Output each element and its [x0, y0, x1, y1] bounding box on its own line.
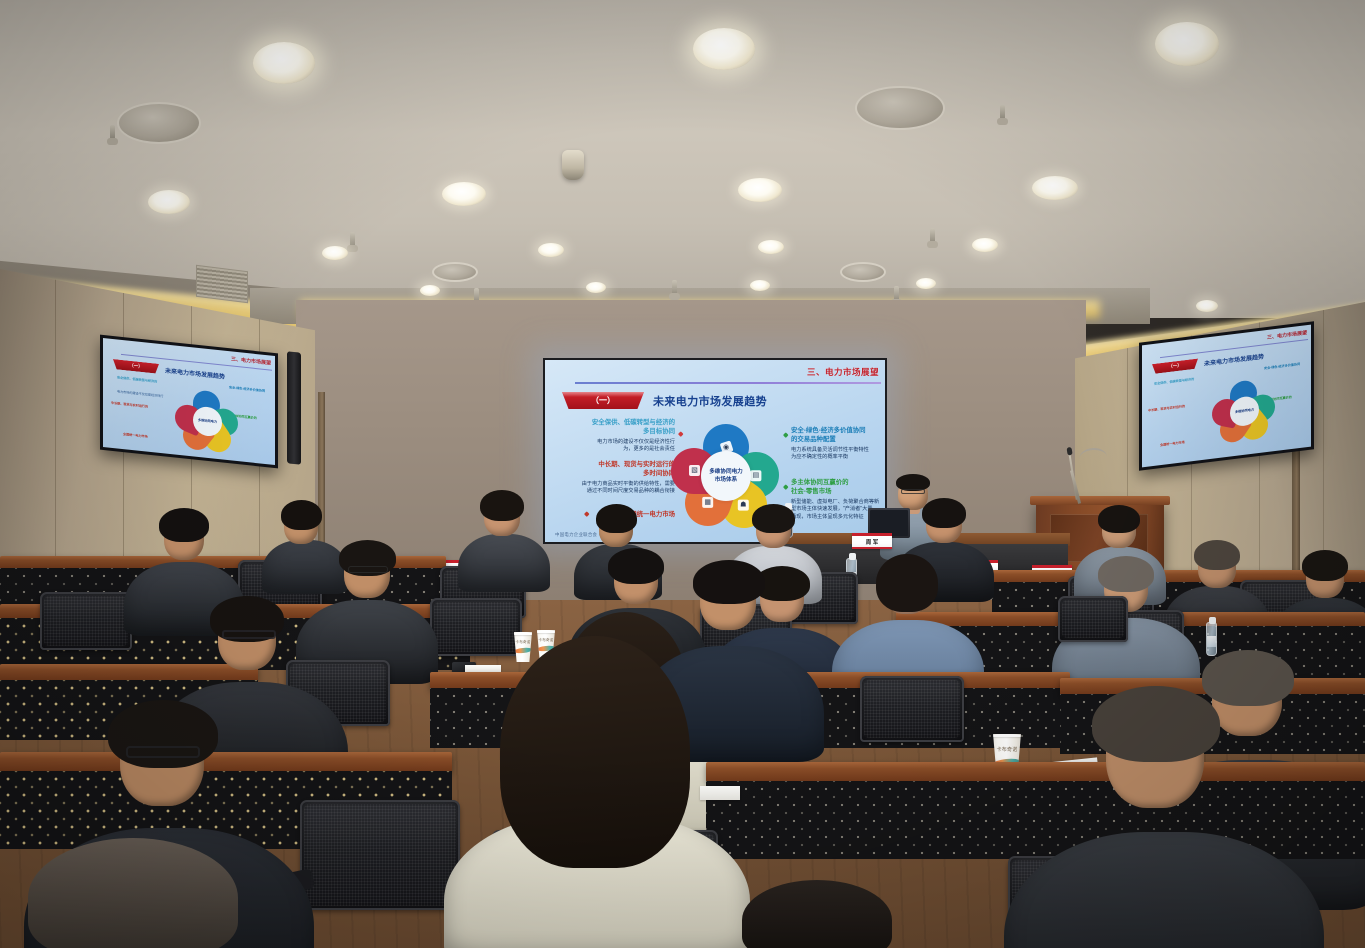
air-vent: [196, 265, 248, 303]
attendee-hair: [159, 508, 209, 542]
block-midleft-heading-1: 中长期、现货与实时运行的: [555, 460, 675, 469]
tv-left-banner-label: （一）: [129, 363, 143, 370]
slide-block-mid-left: 中长期、现货与实时运行的 多时间协同 由于电力商品实时平衡的供给特性，需要 通过…: [555, 460, 675, 496]
wall-display-left[interactable]: 三、电力市场展望 （一） 未来电力市场发展趋势 安全保供、低碳转型与经济的 电力…: [100, 335, 278, 469]
attendee-hair: [922, 498, 966, 528]
tv-left-block-midleft: 中长期、现货与实时运行的: [111, 401, 165, 412]
tv-left-banner: （一）: [113, 359, 159, 374]
tv-right-flower-diagram: 多维协同电力: [1212, 377, 1276, 445]
tv-left-block-topleft: 安全保供、低碳转型与经济的: [117, 375, 169, 386]
block-topleft-body-2: 为，更多的是社会责任: [567, 446, 675, 454]
chair[interactable]: [1058, 596, 1128, 642]
bottle-label: [1207, 636, 1216, 647]
tv-left-section-header: 三、电力市场展望: [231, 355, 271, 366]
ceiling-downlight: [916, 278, 936, 289]
slide-block-top-left: 安全保供、低碳转型与经济的 多目标协同 电力市场的建设不仅仅是经济性行 为，更多…: [567, 418, 675, 454]
block-bottomright-heading-1: 多主体协同互赢价的: [791, 478, 885, 487]
flower-core-line1: 多维协同电力: [709, 468, 743, 476]
tv-right-banner-label: （一）: [1168, 362, 1182, 370]
sprinkler-head: [1000, 105, 1005, 121]
slide-banner-highlight: [562, 392, 644, 397]
block-topright-body-2: 为应不确定性的概率平衡: [791, 454, 885, 462]
sprinkler-head: [930, 228, 935, 244]
block-midleft-body-2: 通过不同时间尺度交易品种的耦合衔接: [555, 488, 675, 496]
block-topright-bullet-icon: [783, 432, 788, 437]
ceiling-downlight: [586, 282, 606, 293]
attendee: [470, 490, 536, 576]
ceiling-downlight: [758, 240, 784, 254]
ceiling-speaker: [840, 262, 886, 282]
ceiling-speaker: [117, 102, 201, 144]
block-topleft-heading-2: 多目标协同: [567, 427, 675, 436]
block-bottomright-heading-2: 社会-零售市场: [791, 487, 885, 496]
tv-left-core-label: 多维协同电力: [198, 418, 217, 424]
tv-left-flower-diagram: 多维协同电力: [175, 388, 239, 455]
block-topright-heading-1: 安全-绿色-经济多价值协同: [791, 426, 885, 435]
wall-speaker-left: [287, 351, 301, 464]
cup-rim: [990, 734, 1024, 737]
attendee-hair: [752, 504, 795, 533]
name-card-text: 周 军: [866, 538, 879, 546]
slide-block-top-right: 安全-绿色-经济多价值协同 的交易品种配置 电力系统具备灵活调节性平衡特性 为应…: [791, 426, 885, 462]
block-topleft-heading-1: 安全保供、低碳转型与经济的: [567, 418, 675, 427]
ceiling-downlight: [1032, 176, 1078, 200]
attendee-hair: [1098, 505, 1140, 533]
block-topright-heading-2: 的交易品种配置: [791, 435, 885, 444]
cup-text: 卡布奇诺: [990, 746, 1024, 753]
block-midleft-heading-2: 多时间协同: [555, 469, 675, 478]
attendee-hair-gray: [1092, 686, 1220, 762]
chair[interactable]: [40, 592, 132, 650]
desk-row-4-right: [706, 762, 1365, 782]
tv-right-block-topleft: 安全保供、低碳转型与经济的: [1154, 376, 1206, 388]
ceiling-downlight: [750, 280, 770, 291]
cup-rim: [512, 632, 534, 635]
cup-rim: [535, 630, 557, 633]
attendee-foreground: [742, 880, 892, 948]
attendee-hair-long: [500, 636, 690, 868]
wall-display-right-screen: 三、电力市场展望 （一） 未来电力市场发展趋势 安全保供、低碳转型与经济的 中长…: [1142, 325, 1311, 468]
slide-section-header: 三、电力市场展望: [807, 366, 879, 378]
attendee-hair-gray: [28, 838, 238, 948]
ceiling-downlight: [420, 285, 440, 296]
name-card: 周 军: [852, 533, 892, 549]
attendee-foreground: [28, 838, 238, 948]
ceiling-speaker: [855, 86, 945, 130]
ceiling-downlight: [738, 178, 782, 202]
ceiling-downlight: [253, 42, 315, 84]
ceiling-speaker: [432, 262, 478, 282]
wall-display-left-screen: 三、电力市场展望 （一） 未来电力市场发展趋势 安全保供、低碳转型与经济的 电力…: [103, 338, 275, 465]
attendee-foreground: [1064, 686, 1254, 948]
attendee-hair: [693, 560, 765, 604]
attendee-hair: [281, 500, 322, 530]
tv-right-block-midleft: 中长期、现货与实时运行的: [1148, 402, 1202, 414]
attendee-hair: [1302, 550, 1348, 581]
smoke-detector-icon: [562, 150, 584, 180]
tv-left-block-topleft-body: 电力市场的建设不仅仅是经济性行: [117, 389, 169, 400]
flower-center-label: 多维协同电力 市场体系: [701, 451, 751, 501]
flower-core-line2: 市场体系: [715, 476, 737, 484]
attendee: [324, 540, 410, 660]
attendee-hair: [480, 490, 524, 521]
sprinkler-head: [672, 280, 677, 296]
attendee: [862, 556, 952, 684]
tv-right-core-label: 多维协同电力: [1235, 408, 1254, 415]
chair[interactable]: [860, 676, 964, 742]
ceiling-downlight: [1196, 300, 1218, 312]
grid-icon: ▦: [703, 498, 714, 509]
presenter-glasses-icon: [901, 489, 925, 494]
attendee-torso: [458, 534, 550, 592]
attendee-foreground: [496, 636, 692, 948]
ceiling-downlight: [148, 190, 190, 214]
ceiling-downlight: [442, 182, 486, 206]
lectern-top: [1030, 496, 1170, 505]
sprinkler-head: [110, 125, 115, 141]
tv-right-title: 未来电力市场发展趋势: [1204, 351, 1264, 367]
attendee-hair: [596, 504, 637, 533]
document-icon: ▤: [751, 470, 762, 481]
slide-divider: [575, 382, 881, 384]
block-bottomright-bullet-icon: [783, 484, 788, 489]
chair[interactable]: [300, 800, 460, 910]
document-sheet: [700, 786, 740, 800]
tv-right-block-bottomleft: 全国统一电力市场: [1160, 437, 1210, 448]
glasses-icon: [348, 566, 388, 573]
ceiling-downlight: [693, 28, 755, 70]
tv-right-block-topright: 安全-绿色-经济多价值协同: [1264, 360, 1311, 371]
conference-room-scene: 三、电力市场展望 （一） 未来电力市场发展趋势 安全保供、低碳转型与经济的 电力…: [0, 0, 1365, 948]
attendee-hair-gray: [1098, 556, 1154, 592]
ceiling-downlight: [538, 243, 564, 257]
ceiling-downlight: [322, 246, 348, 260]
glasses-icon: [222, 630, 276, 639]
desk-panel: [706, 781, 1365, 859]
tv-left-block-bottomleft: 全国统一电力市场: [123, 432, 173, 443]
slide-title: 未来电力市场发展趋势: [653, 393, 767, 409]
attendee-hair: [608, 548, 664, 584]
attendee-hair-long: [876, 554, 938, 612]
wall-display-right[interactable]: 三、电力市场展望 （一） 未来电力市场发展趋势 安全保供、低碳转型与经济的 中长…: [1139, 321, 1314, 470]
tv-left-title: 未来电力市场发展趋势: [165, 365, 225, 380]
ceiling-downlight: [1155, 22, 1219, 66]
ceiling-downlight: [972, 238, 998, 252]
chart-icon: ▧: [689, 466, 700, 477]
sprinkler-head: [350, 232, 355, 248]
attendee-hair: [1194, 540, 1240, 570]
tv-right-banner: （一）: [1152, 358, 1198, 374]
attendee-hair: [742, 880, 892, 948]
glasses-icon: [126, 746, 200, 758]
